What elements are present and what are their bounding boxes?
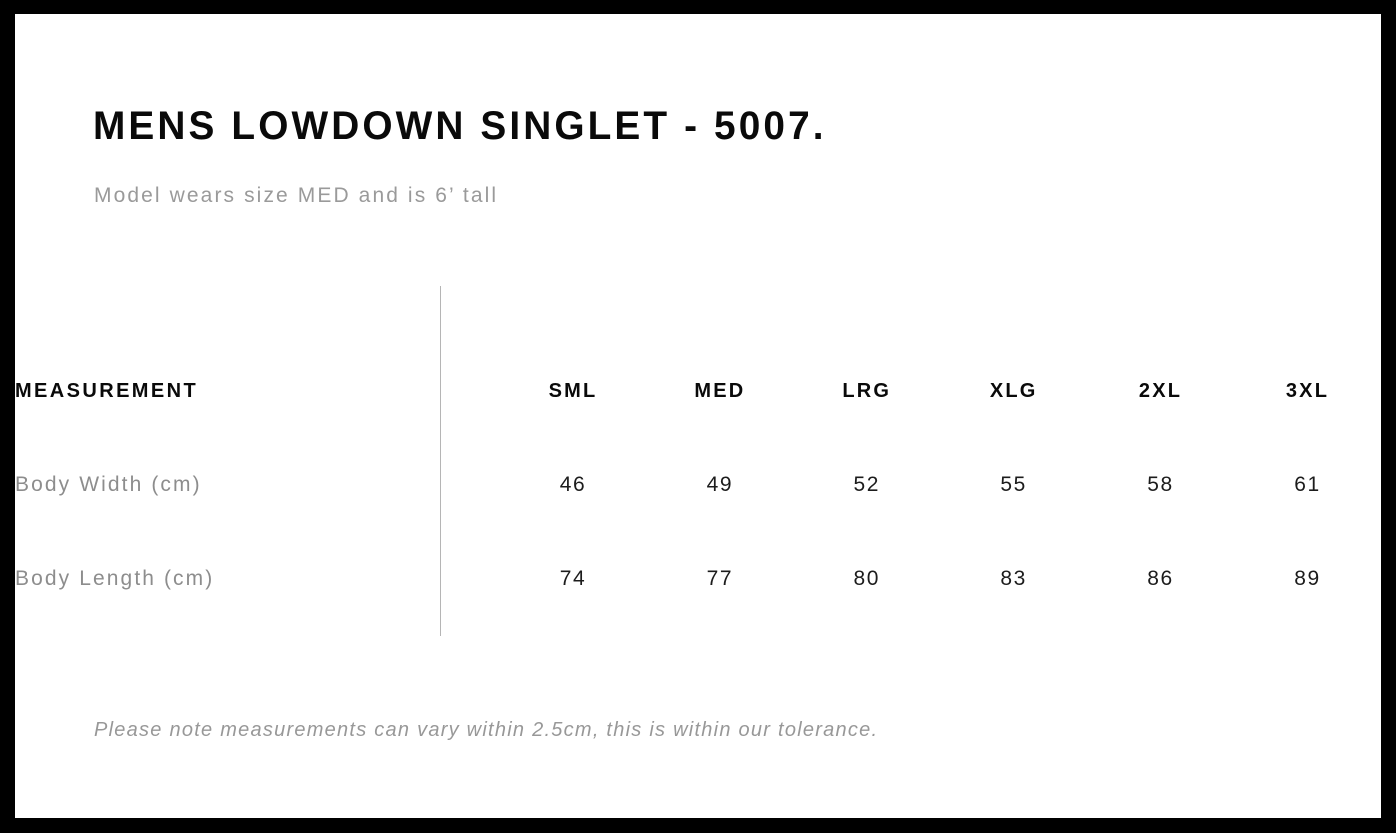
row-label-body-length: Body Length (cm) bbox=[15, 532, 500, 626]
column-header-lrg: LRG bbox=[793, 344, 940, 438]
column-header-2xl: 2XL bbox=[1087, 344, 1234, 438]
cell-body-length-xlg: 83 bbox=[940, 532, 1087, 626]
cell-body-length-sml: 74 bbox=[500, 532, 647, 626]
cell-body-width-lrg: 52 bbox=[793, 438, 940, 532]
tolerance-footnote: Please note measurements can vary within… bbox=[94, 719, 878, 742]
table-row: Body Length (cm) 74 77 80 83 86 89 bbox=[15, 532, 1381, 626]
cell-body-length-med: 77 bbox=[646, 532, 793, 626]
column-header-3xl: 3XL bbox=[1234, 344, 1381, 438]
row-label-body-width: Body Width (cm) bbox=[15, 438, 500, 532]
cell-body-width-3xl: 61 bbox=[1234, 438, 1381, 532]
table-header-row: MEASUREMENT SML MED LRG XLG 2XL 3XL bbox=[15, 344, 1381, 438]
column-header-med: MED bbox=[646, 344, 793, 438]
table-row: Body Width (cm) 46 49 52 55 58 61 bbox=[15, 438, 1381, 532]
black-border-frame: MENS LOWDOWN SINGLET - 5007. Model wears… bbox=[0, 0, 1396, 833]
column-header-measurement: MEASUREMENT bbox=[15, 344, 500, 438]
cell-body-width-xlg: 55 bbox=[940, 438, 1087, 532]
cell-body-width-sml: 46 bbox=[500, 438, 647, 532]
cell-body-width-med: 49 bbox=[646, 438, 793, 532]
cell-body-length-2xl: 86 bbox=[1087, 532, 1234, 626]
cell-body-length-lrg: 80 bbox=[793, 532, 940, 626]
cell-body-width-2xl: 58 bbox=[1087, 438, 1234, 532]
column-header-xlg: XLG bbox=[940, 344, 1087, 438]
cell-body-length-3xl: 89 bbox=[1234, 532, 1381, 626]
size-chart-table: MEASUREMENT SML MED LRG XLG 2XL 3XL Body… bbox=[15, 344, 1381, 626]
size-chart-sheet: MENS LOWDOWN SINGLET - 5007. Model wears… bbox=[15, 14, 1381, 818]
column-header-sml: SML bbox=[500, 344, 647, 438]
size-table-container: MEASUREMENT SML MED LRG XLG 2XL 3XL Body… bbox=[15, 14, 1381, 818]
